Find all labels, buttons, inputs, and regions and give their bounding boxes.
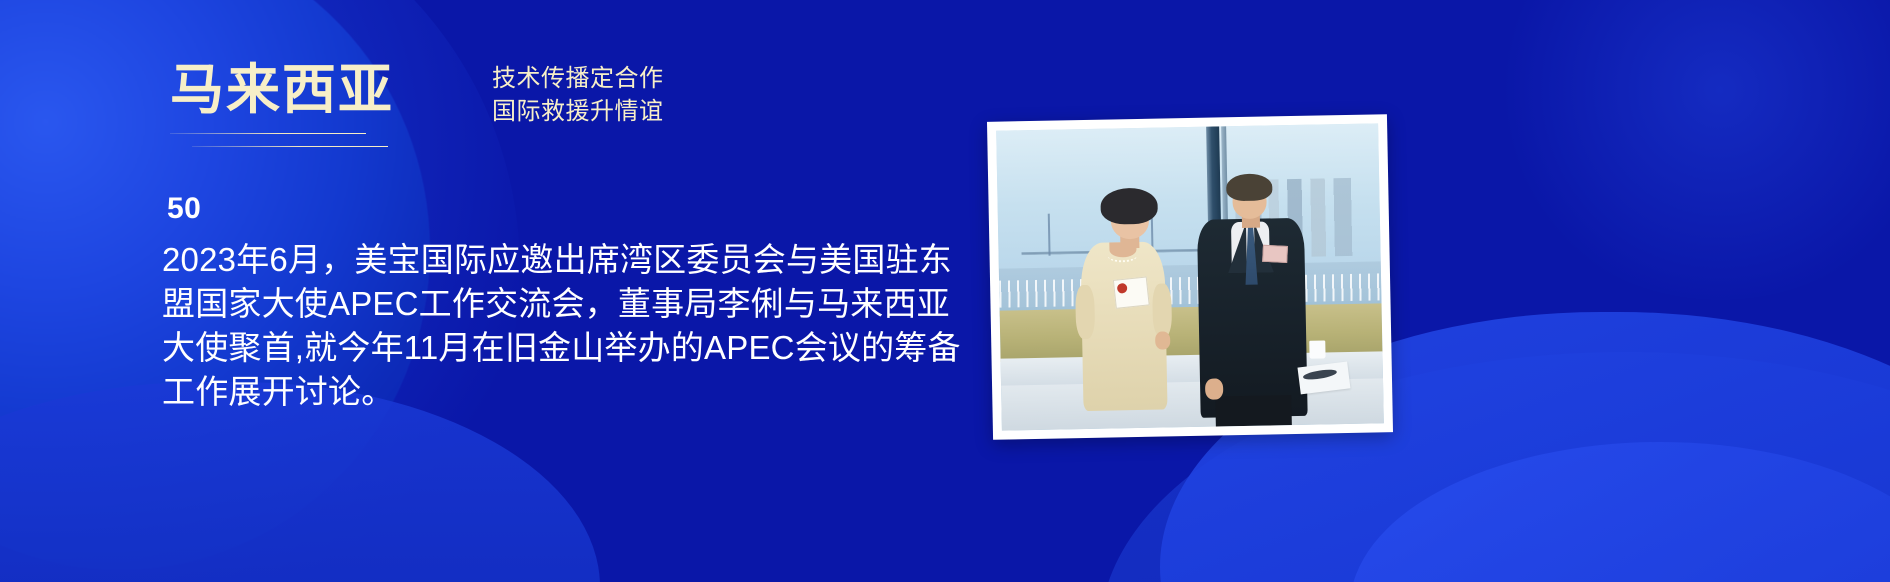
photo-man-name-badge (1262, 245, 1288, 263)
subtitle-line-2: 国际救援升情谊 (492, 95, 664, 128)
page-title: 马来西亚 (170, 62, 394, 119)
photo-man-legs (1215, 395, 1292, 426)
subtitle-couplet: 技术传播定合作 国际救援升情谊 (492, 62, 664, 128)
item-number: 50 (167, 192, 201, 226)
photo-cup (1310, 340, 1326, 358)
photo-woman-arm-left (1076, 285, 1096, 339)
subtitle-line-1: 技术传播定合作 (492, 62, 664, 95)
photo-man-hair (1226, 173, 1272, 201)
photo-container (987, 114, 1393, 440)
photo-frame (987, 114, 1393, 440)
body-line: 大使聚首,就今年11月在旧金山举办的APEC会议的筹备 (162, 326, 922, 370)
title-rule-lower (192, 146, 388, 148)
event-photograph (996, 123, 1384, 430)
photo-woman-hand (1155, 331, 1171, 349)
body-line: 盟国家大使APEC工作交流会，董事局李俐与马来西亚 (162, 282, 922, 326)
title-block: 马来西亚 (170, 62, 394, 155)
photo-woman-name-badge (1112, 276, 1149, 308)
body-paragraph: 2023年6月，美宝国际应邀出席湾区委员会与美国驻东 盟国家大使APEC工作交流… (162, 238, 922, 414)
slide-content: 马来西亚 技术传播定合作 国际救援升情谊 50 2023年6月，美宝国际应邀出席… (0, 0, 1890, 582)
title-rule-upper (170, 133, 366, 135)
body-line: 2023年6月，美宝国际应邀出席湾区委员会与美国驻东 (162, 238, 922, 282)
photo-man-hand (1205, 378, 1223, 399)
slide-root: 马来西亚 技术传播定合作 国际救援升情谊 50 2023年6月，美宝国际应邀出席… (0, 0, 1890, 582)
title-underline-rules (170, 133, 388, 155)
photo-woman-arm-right (1152, 283, 1172, 337)
photo-woman-hair (1100, 188, 1158, 225)
body-line: 工作展开讨论。 (162, 370, 922, 414)
